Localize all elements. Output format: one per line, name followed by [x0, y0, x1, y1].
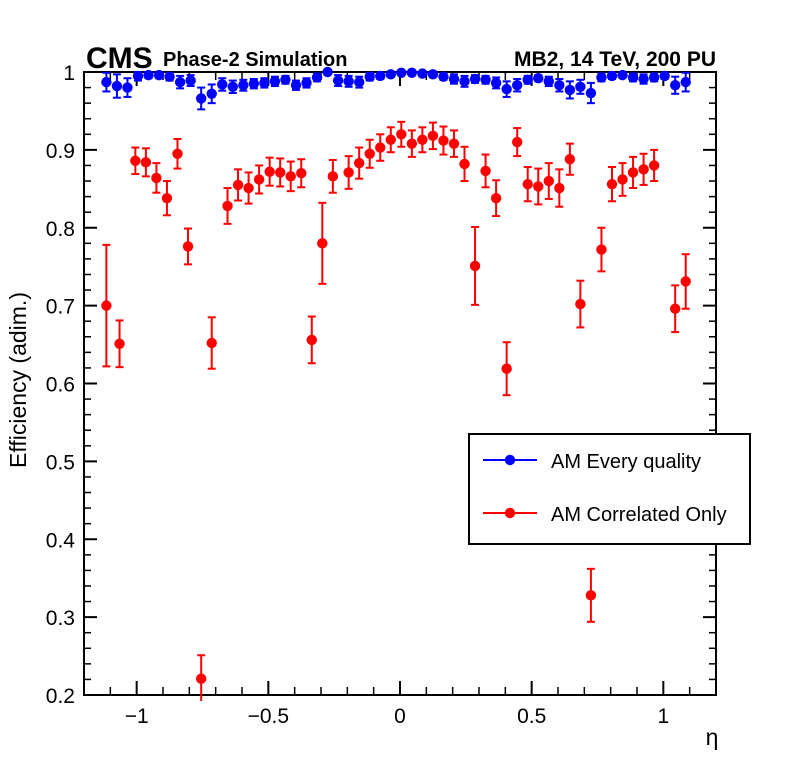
marker — [270, 76, 280, 86]
data-point — [607, 71, 617, 81]
marker — [523, 179, 533, 189]
data-point — [249, 78, 259, 88]
marker — [365, 149, 375, 159]
marker — [254, 174, 264, 184]
y-tick-label: 0.7 — [46, 296, 75, 319]
marker — [407, 138, 417, 148]
marker — [523, 75, 533, 85]
x-tick-label: −1 — [125, 705, 149, 728]
data-point — [301, 78, 311, 88]
data-point — [259, 78, 269, 88]
legend-label: AM Correlated Only — [551, 504, 727, 526]
marker — [141, 157, 151, 167]
cms-sublabel: Phase-2 Simulation — [163, 49, 348, 71]
marker — [307, 335, 317, 345]
marker — [596, 72, 606, 82]
marker — [183, 241, 193, 251]
y-tick-label: 0.4 — [46, 529, 76, 552]
data-point — [438, 71, 448, 81]
marker — [317, 238, 327, 248]
x-axis-title: η — [706, 724, 719, 750]
marker — [491, 78, 501, 88]
y-axis-title: Efficiency (adim.) — [5, 292, 31, 468]
canvas-background — [0, 0, 796, 772]
data-point — [322, 67, 332, 77]
marker — [328, 171, 338, 181]
marker — [607, 179, 617, 189]
dataset-label: MB2, 14 TeV, 200 PU — [514, 48, 716, 71]
y-tick-label: 0.2 — [46, 685, 75, 708]
marker — [459, 159, 469, 169]
marker — [249, 78, 259, 88]
data-point — [428, 69, 438, 79]
marker — [217, 79, 227, 89]
marker — [575, 299, 585, 309]
marker — [143, 70, 153, 80]
y-tick-label: 0.9 — [46, 140, 75, 163]
marker — [264, 166, 274, 176]
y-tick-label: 0.6 — [46, 374, 75, 397]
marker — [228, 82, 238, 92]
data-point — [375, 71, 385, 81]
marker — [354, 158, 364, 168]
data-point — [617, 70, 627, 80]
legend-marker — [505, 508, 515, 518]
data-point — [628, 72, 638, 82]
x-tick-label: 1 — [657, 705, 669, 728]
marker — [133, 71, 143, 81]
marker — [575, 82, 585, 92]
marker — [628, 72, 638, 82]
marker — [407, 68, 417, 78]
marker — [130, 156, 140, 166]
data-point — [533, 73, 543, 83]
marker — [681, 77, 691, 87]
marker — [638, 74, 648, 84]
marker — [343, 167, 353, 177]
data-point — [154, 70, 164, 80]
marker — [501, 364, 511, 374]
marker — [512, 137, 522, 147]
marker — [617, 70, 627, 80]
data-point — [133, 71, 143, 81]
x-tick-label: −0.5 — [248, 705, 289, 728]
marker — [196, 673, 206, 683]
marker — [459, 76, 469, 86]
data-point — [143, 70, 153, 80]
y-tick-label: 1 — [63, 62, 75, 85]
marker — [681, 276, 691, 286]
marker — [101, 77, 111, 87]
marker — [533, 181, 543, 191]
data-point — [470, 74, 480, 84]
marker — [312, 72, 322, 82]
marker — [396, 129, 406, 139]
marker — [607, 71, 617, 81]
marker — [544, 76, 554, 86]
data-point — [659, 71, 669, 81]
marker — [172, 149, 182, 159]
marker — [301, 78, 311, 88]
marker — [196, 93, 206, 103]
marker — [122, 82, 132, 92]
marker — [533, 73, 543, 83]
marker — [207, 338, 217, 348]
data-point — [386, 69, 396, 79]
plot-root: CMS Phase-2 Simulation MB2, 14 TeV, 200 … — [0, 0, 796, 772]
data-point — [280, 75, 290, 85]
marker — [480, 75, 490, 85]
y-tick-label: 0.3 — [46, 607, 75, 630]
data-point — [523, 75, 533, 85]
marker — [354, 77, 364, 87]
marker — [649, 160, 659, 170]
marker — [207, 89, 217, 99]
marker — [449, 74, 459, 84]
marker — [586, 88, 596, 98]
data-point — [596, 72, 606, 82]
y-tick-label: 0.5 — [46, 451, 75, 474]
data-point — [544, 76, 554, 86]
marker — [233, 180, 243, 190]
marker — [617, 174, 627, 184]
marker — [222, 201, 232, 211]
data-point — [649, 72, 659, 82]
marker — [596, 244, 606, 254]
marker — [151, 173, 161, 183]
marker — [586, 590, 596, 600]
marker — [375, 71, 385, 81]
marker — [333, 75, 343, 85]
marker — [428, 131, 438, 141]
marker — [386, 135, 396, 145]
data-point — [480, 75, 490, 85]
legend-label: AM Every quality — [551, 451, 701, 473]
marker — [628, 167, 638, 177]
marker — [428, 69, 438, 79]
data-point — [638, 74, 648, 84]
marker — [544, 176, 554, 186]
marker — [659, 71, 669, 81]
marker — [154, 70, 164, 80]
marker — [501, 84, 511, 94]
marker — [638, 164, 648, 174]
marker — [112, 81, 122, 91]
marker — [375, 142, 385, 152]
marker — [259, 78, 269, 88]
marker — [164, 71, 174, 81]
marker — [238, 80, 248, 90]
marker — [365, 71, 375, 81]
marker — [386, 69, 396, 79]
marker — [565, 85, 575, 95]
data-point — [270, 76, 280, 86]
data-point — [164, 71, 174, 81]
marker — [449, 138, 459, 148]
marker — [470, 74, 480, 84]
marker — [470, 261, 480, 271]
marker — [243, 183, 253, 193]
marker — [480, 166, 490, 176]
marker — [114, 339, 124, 349]
marker — [343, 76, 353, 86]
data-point — [449, 74, 459, 84]
cms-label: CMS — [86, 42, 153, 75]
marker — [322, 67, 332, 77]
marker — [670, 304, 680, 314]
marker — [296, 168, 306, 178]
marker — [417, 135, 427, 145]
marker — [286, 171, 296, 181]
data-point — [396, 68, 406, 78]
x-tick-label: 0.5 — [517, 705, 546, 728]
marker — [396, 68, 406, 78]
data-point — [365, 71, 375, 81]
marker — [162, 193, 172, 203]
legend[interactable]: AM Every qualityAM Correlated Only — [469, 434, 750, 544]
marker — [512, 80, 522, 90]
marker — [670, 80, 680, 90]
marker — [438, 135, 448, 145]
marker — [185, 75, 195, 85]
marker — [649, 72, 659, 82]
marker — [417, 68, 427, 78]
data-point — [312, 72, 322, 82]
marker — [101, 300, 111, 310]
data-point — [407, 68, 417, 78]
legend-marker — [505, 455, 515, 465]
x-tick-label: 0 — [394, 705, 406, 728]
marker — [554, 80, 564, 90]
marker — [438, 71, 448, 81]
marker — [280, 75, 290, 85]
marker — [565, 154, 575, 164]
data-point — [291, 80, 301, 90]
data-point — [417, 68, 427, 78]
marker — [554, 183, 564, 193]
marker — [291, 80, 301, 90]
marker — [175, 77, 185, 87]
y-tick-label: 0.8 — [46, 218, 75, 241]
marker — [275, 167, 285, 177]
efficiency-scatter-plot: CMS Phase-2 Simulation MB2, 14 TeV, 200 … — [0, 0, 796, 772]
marker — [491, 193, 501, 203]
